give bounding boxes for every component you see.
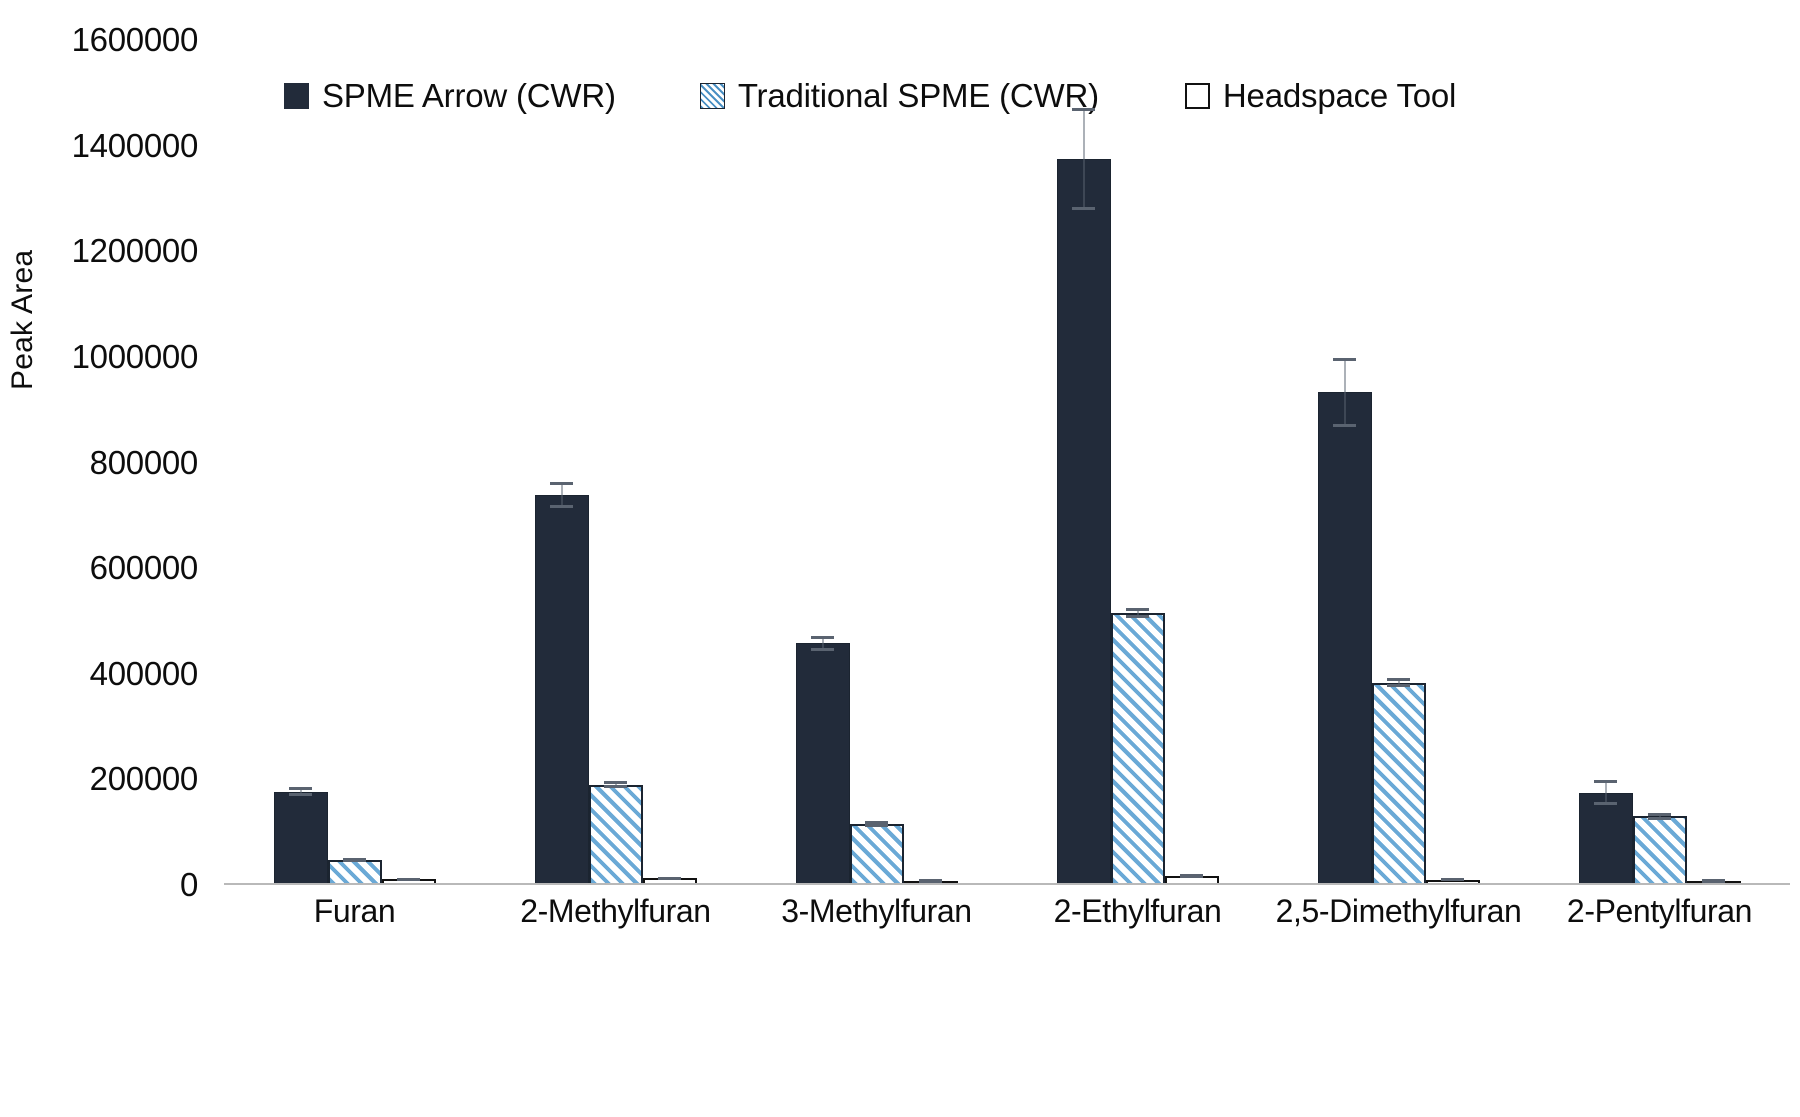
error-bar: [1659, 813, 1660, 819]
bar[interactable]: [274, 792, 328, 885]
error-bar: [1083, 108, 1084, 210]
bar-group: [485, 40, 746, 885]
error-bar: [1344, 358, 1345, 427]
x-axis-tick-label: 3-Methylfuran: [746, 893, 1007, 963]
y-axis-tick-label: 600000: [90, 549, 198, 587]
bar-groups: [224, 40, 1790, 885]
x-axis-tick-label: 2,5-Dimethylfuran: [1268, 893, 1529, 963]
plot-area: [224, 40, 1790, 885]
error-bar: [354, 858, 355, 862]
error-bar: [1398, 678, 1399, 688]
error-bar: [615, 781, 616, 788]
bar-slot: [904, 40, 958, 885]
error-bar: [408, 878, 409, 881]
bar[interactable]: [1579, 793, 1633, 885]
error-bar: [300, 787, 301, 795]
bar-slot: [850, 40, 904, 885]
bar-slot: [1426, 40, 1480, 885]
x-axis-baseline: [224, 883, 1790, 885]
bar-group: [1529, 40, 1790, 885]
bar-slot: [643, 40, 697, 885]
y-axis-tick-labels: 1600000140000012000001000000800000600000…: [0, 0, 215, 1117]
bar-slot: [1633, 40, 1687, 885]
y-axis-tick-label: 800000: [90, 444, 198, 482]
bar[interactable]: [796, 643, 850, 885]
error-bar: [1452, 878, 1453, 881]
bar-slot: [796, 40, 850, 885]
y-axis-tick-label: 200000: [90, 760, 198, 798]
bar-slot: [1318, 40, 1372, 885]
error-bar: [669, 877, 670, 880]
bar[interactable]: [1372, 683, 1426, 885]
x-axis-tick-label: Furan: [224, 893, 485, 963]
error-bar: [876, 821, 877, 827]
bar-slot: [1372, 40, 1426, 885]
x-axis-tick-label: 2-Methylfuran: [485, 893, 746, 963]
y-axis-tick-label: 1000000: [72, 338, 198, 376]
x-axis-tick-label: 2-Ethylfuran: [1007, 893, 1268, 963]
bar[interactable]: [589, 785, 643, 885]
bar-slot: [1111, 40, 1165, 885]
bar-group-bars: [1007, 40, 1268, 885]
bar-group-bars: [746, 40, 1007, 885]
bar[interactable]: [535, 495, 589, 885]
bar-slot: [328, 40, 382, 885]
bar-group: [1268, 40, 1529, 885]
bar-chart: Peak Area 160000014000001200000100000080…: [0, 0, 1800, 1117]
bar[interactable]: [328, 860, 382, 885]
bar-slot: [589, 40, 643, 885]
y-axis-tick-label: 1200000: [72, 232, 198, 270]
bar-group-bars: [485, 40, 746, 885]
y-axis-tick-label: 0: [180, 866, 198, 904]
bar-slot: [535, 40, 589, 885]
y-axis-tick-label: 1400000: [72, 127, 198, 165]
bar-slot: [1579, 40, 1633, 885]
error-bar: [1605, 780, 1606, 805]
bar[interactable]: [1111, 613, 1165, 885]
bar-group: [1007, 40, 1268, 885]
bar[interactable]: [1633, 816, 1687, 885]
y-axis-tick-label: 400000: [90, 655, 198, 693]
bar-slot: [1057, 40, 1111, 885]
bar-slot: [1165, 40, 1219, 885]
x-axis-tick-labels: Furan2-Methylfuran3-Methylfuran2-Ethylfu…: [224, 893, 1790, 963]
error-bar: [822, 636, 823, 651]
bar-slot: [382, 40, 436, 885]
bar-group: [224, 40, 485, 885]
bar-slot: [274, 40, 328, 885]
bar-group: [746, 40, 1007, 885]
error-bar: [1137, 608, 1138, 619]
y-axis-tick-label: 1600000: [72, 21, 198, 59]
bar-slot: [1687, 40, 1741, 885]
error-bar: [561, 482, 562, 508]
bar-group-bars: [224, 40, 485, 885]
bar[interactable]: [1318, 392, 1372, 885]
bar[interactable]: [1057, 159, 1111, 885]
error-bar: [1191, 874, 1192, 878]
error-bar: [930, 880, 931, 882]
bar-group-bars: [1268, 40, 1529, 885]
x-axis-tick-label: 2-Pentylfuran: [1529, 893, 1790, 963]
bar-group-bars: [1529, 40, 1790, 885]
bar[interactable]: [850, 824, 904, 885]
